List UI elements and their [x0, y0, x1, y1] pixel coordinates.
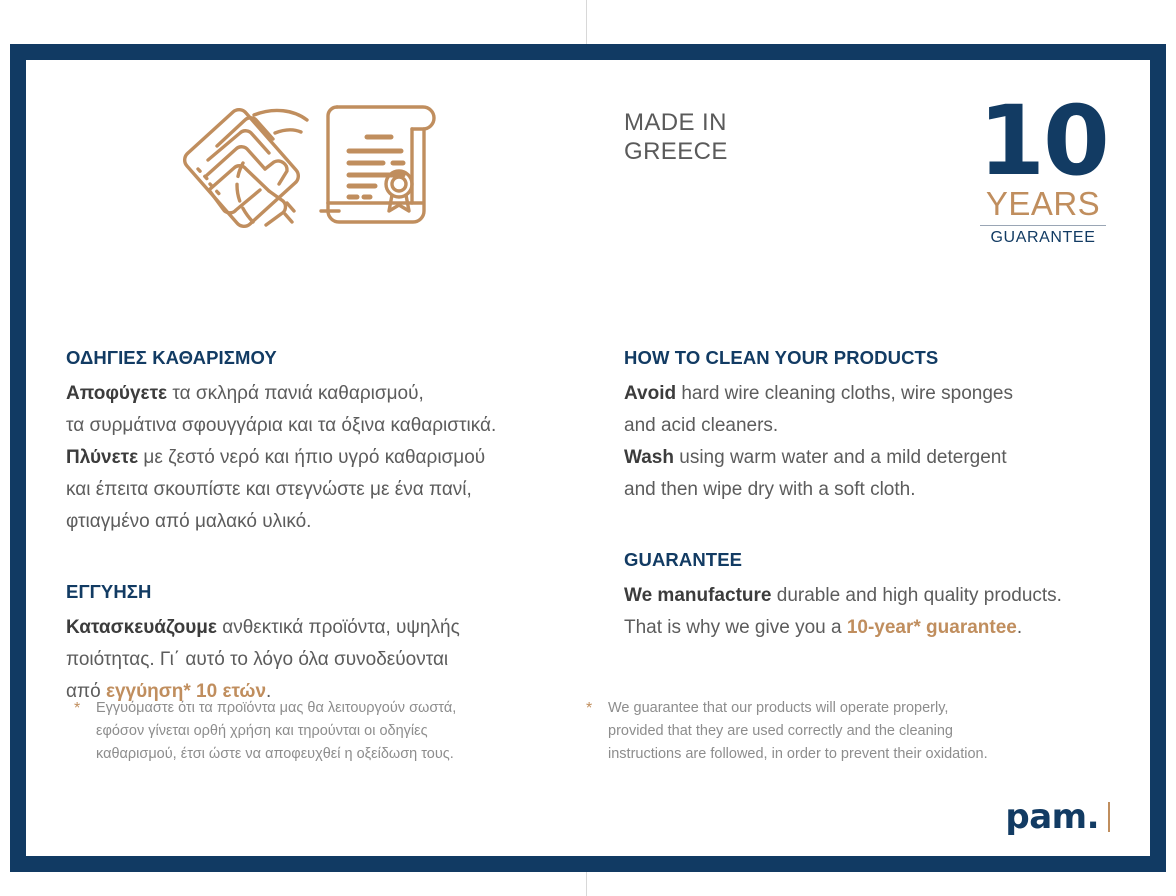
text-line: Avoid hard wire cleaning cloths, wire sp… — [624, 378, 1150, 410]
section-heading: ΕΓΓΥΗΣΗ — [66, 580, 586, 604]
badge-number: 10 — [978, 98, 1108, 184]
badge-guarantee-label: GUARANTEE — [978, 228, 1108, 248]
text-line: Πλύνετε με ζεστό νερό και ήπιο υγρό καθα… — [66, 442, 586, 474]
text-line: provided that they are used correctly an… — [608, 720, 1106, 743]
right-panel-english: MADE IN GREECE 10 YEARS GUARANTEE HOW TO… — [586, 60, 1150, 856]
left-panel-greek: ΟΔΗΓΙΕΣ ΚΑΘΑΡΙΣΜΟΥ Αποφύγετε τα σκληρά π… — [26, 60, 586, 856]
text-line: φτιαγμένο από μαλακό υλικό. — [66, 506, 586, 538]
footnote-english: * We guarantee that our products will op… — [586, 697, 1106, 766]
badge-divider-rule — [980, 225, 1106, 226]
asterisk-marker: * — [74, 697, 96, 766]
text-line: That is why we give you a 10-year* guara… — [624, 612, 1150, 644]
text-line: We guarantee that our products will oper… — [608, 697, 1106, 720]
text-line: instructions are followed, in order to p… — [608, 743, 1106, 766]
text-line: Κατασκευάζουμε ανθεκτικά προϊόντα, υψηλή… — [66, 612, 586, 644]
made-in-greece-label: MADE IN GREECE — [624, 108, 728, 166]
section-body: Αποφύγετε τα σκληρά πανιά καθαρισμού,τα … — [66, 378, 586, 538]
asterisk-marker: * — [586, 697, 608, 766]
right-top-row: MADE IN GREECE 10 YEARS GUARANTEE — [624, 60, 1150, 260]
text-line: and acid cleaners. — [624, 410, 1150, 442]
text-line: ποιότητας. Γι΄ αυτό το λόγο όλα συνοδεύο… — [66, 644, 586, 676]
text-line: Wash using warm water and a mild deterge… — [624, 442, 1150, 474]
illustration-row — [66, 60, 586, 260]
badge-years-label: YEARS — [978, 186, 1108, 222]
section-heading: GUARANTEE — [624, 548, 1150, 572]
section-guarantee-en: GUARANTEE We manufacture durable and hig… — [624, 548, 1150, 644]
section-heading: ΟΔΗΓΙΕΣ ΚΑΘΑΡΙΣΜΟΥ — [66, 346, 586, 370]
section-body: Avoid hard wire cleaning cloths, wire sp… — [624, 378, 1150, 506]
footnote-text: Εγγυόμαστε ότι τα προϊόντα μας θα λειτου… — [96, 697, 574, 766]
section-body: Κατασκευάζουμε ανθεκτικά προϊόντα, υψηλή… — [66, 612, 586, 708]
ten-year-guarantee-badge: 10 YEARS GUARANTEE — [978, 98, 1108, 248]
text-line: and then wipe dry with a soft cloth. — [624, 474, 1150, 506]
section-heading: HOW TO CLEAN YOUR PRODUCTS — [624, 346, 1150, 370]
text-line: καθαρισμού, έτσι ώστε να αποφευχθεί η οξ… — [96, 743, 574, 766]
pam-wordmark: pam. — [1005, 800, 1099, 834]
footnote-greek: * Εγγυόμαστε ότι τα προϊόντα μας θα λειτ… — [74, 697, 574, 766]
brochure-card-frame: ΟΔΗΓΙΕΣ ΚΑΘΑΡΙΣΜΟΥ Αποφύγετε τα σκληρά π… — [10, 44, 1166, 872]
text-line: και έπειτα σκουπίστε και στεγνώστε με έν… — [66, 474, 586, 506]
text-line: Εγγυόμαστε ότι τα προϊόντα μας θα λειτου… — [96, 697, 574, 720]
text-line: Αποφύγετε τα σκληρά πανιά καθαρισμού, — [66, 378, 586, 410]
pam-brand-logo: pam. — [1005, 800, 1110, 834]
section-cleaning-instructions-en: HOW TO CLEAN YOUR PRODUCTS Avoid hard wi… — [624, 346, 1150, 506]
text-line: τα συρμάτινα σφουγγάρια και τα όξινα καθ… — [66, 410, 586, 442]
pam-accent-bar — [1108, 802, 1110, 832]
section-guarantee-gr: ΕΓΓΥΗΣΗ Κατασκευάζουμε ανθεκτικά προϊόντ… — [66, 580, 586, 708]
text-line: εφόσον γίνεται ορθή χρήση και τηρούνται … — [96, 720, 574, 743]
text-line: We manufacture durable and high quality … — [624, 580, 1150, 612]
section-cleaning-instructions-gr: ΟΔΗΓΙΕΣ ΚΑΘΑΡΙΣΜΟΥ Αποφύγετε τα σκληρά π… — [66, 346, 586, 538]
cleaning-and-certificate-icon — [161, 85, 451, 235]
footnote-text: We guarantee that our products will oper… — [608, 697, 1106, 766]
section-body: We manufacture durable and high quality … — [624, 580, 1150, 644]
brochure-card-inner: ΟΔΗΓΙΕΣ ΚΑΘΑΡΙΣΜΟΥ Αποφύγετε τα σκληρά π… — [26, 60, 1150, 856]
